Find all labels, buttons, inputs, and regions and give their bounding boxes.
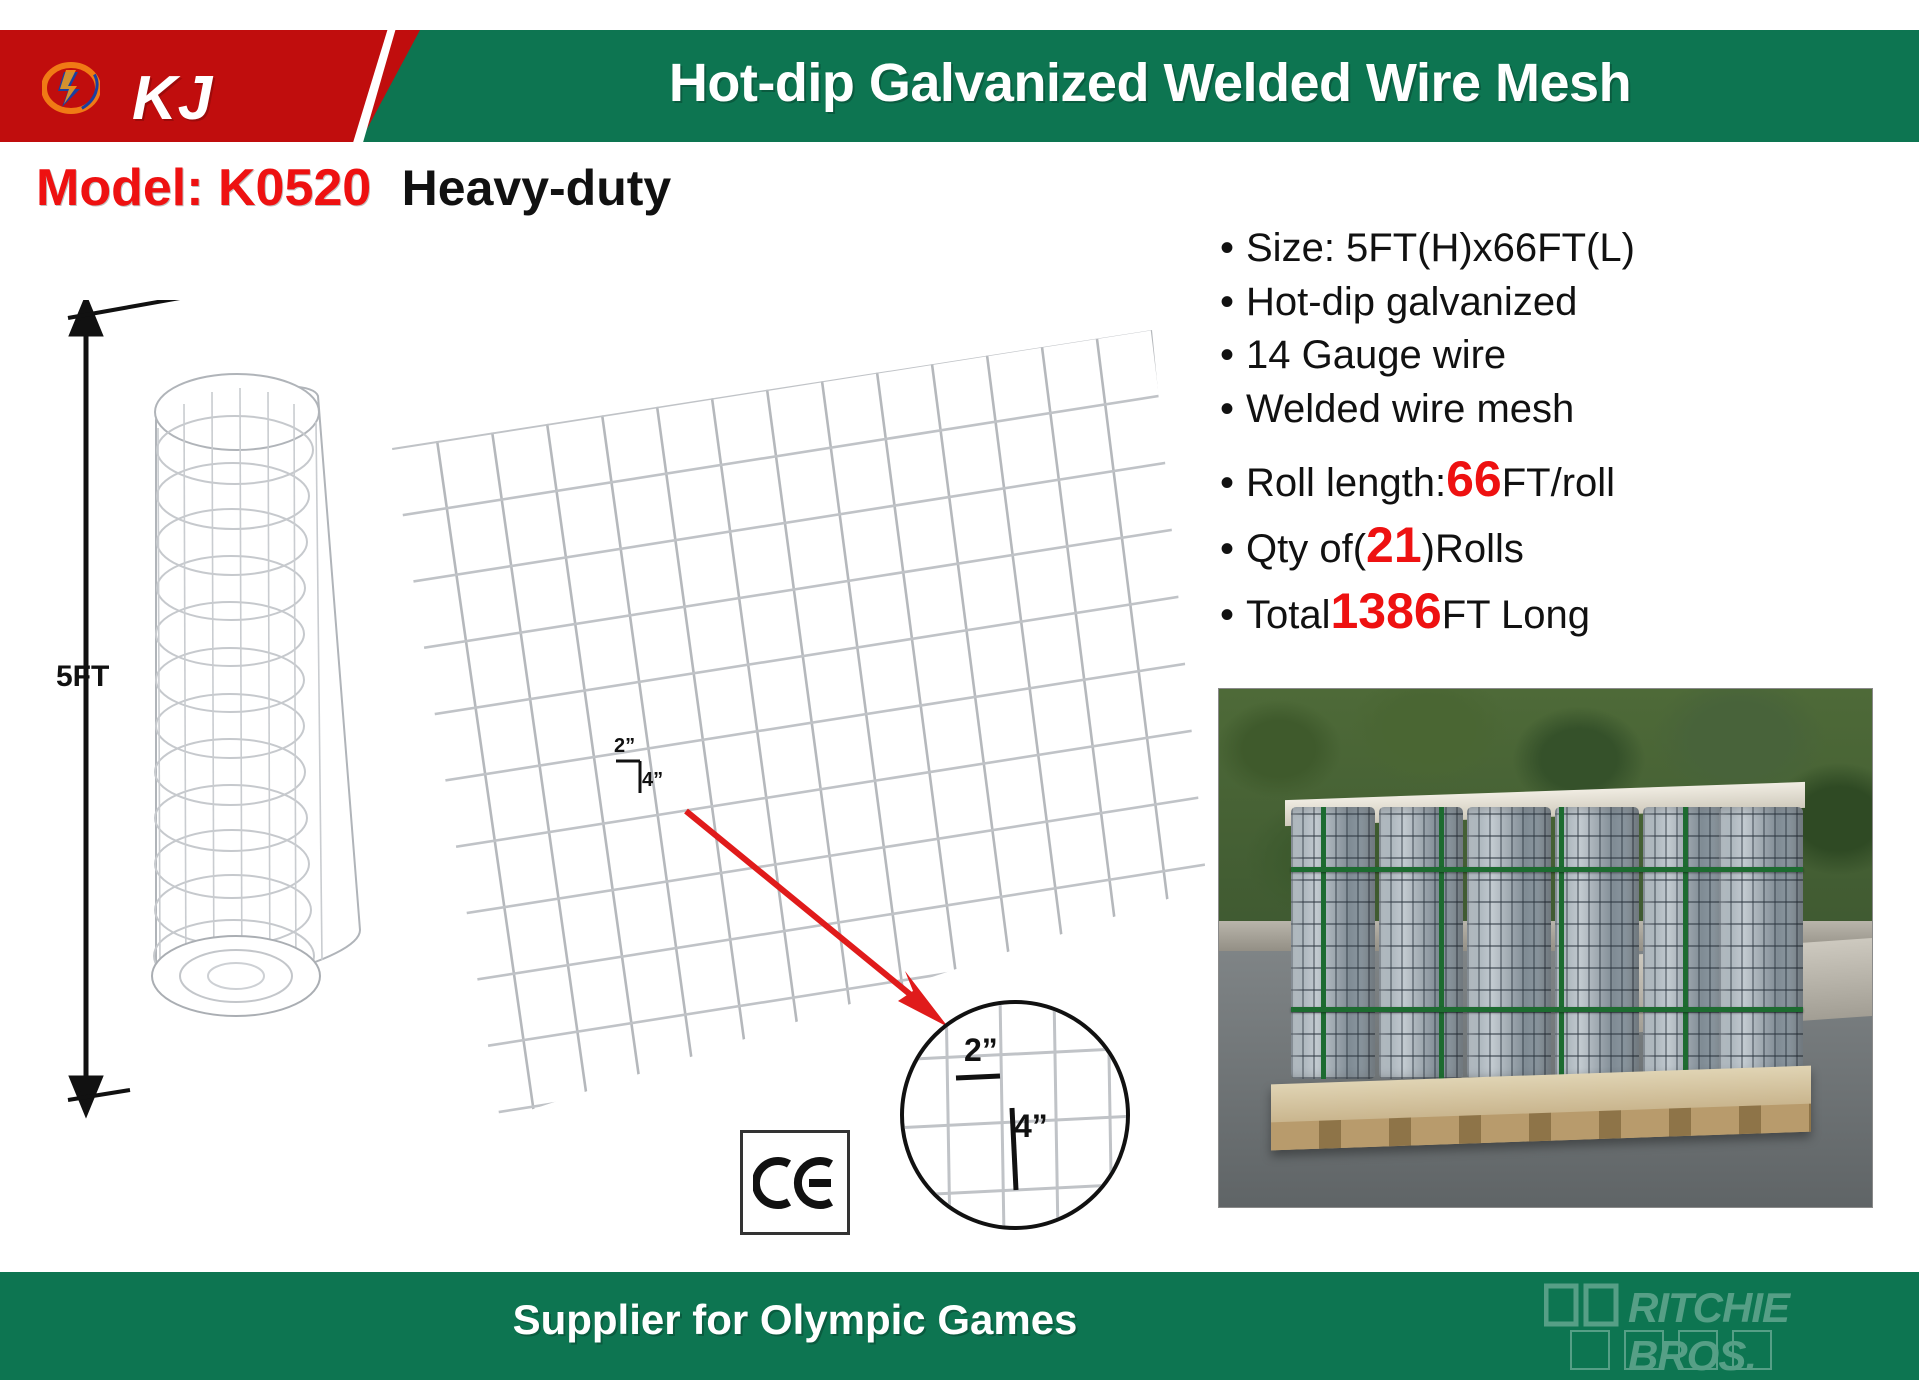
spec-item-galvanized: • Hot-dip galvanized: [1220, 278, 1860, 328]
brand-initials: KJ: [132, 68, 213, 130]
mesh-detail-magnifier: 2” 4”: [900, 1000, 1130, 1230]
spec-item-roll-length: • Roll length: 66 FT/roll: [1220, 448, 1860, 510]
bullet-icon: •: [1220, 463, 1246, 503]
photo-strap-vertical: [1321, 807, 1326, 1079]
photo-strap-horizontal: [1291, 867, 1803, 872]
model-grade: Heavy-duty: [402, 160, 672, 216]
spec-highlight-value: 21: [1366, 514, 1422, 576]
spec-item-size: • Size: 5FT(H)x66FT(L): [1220, 224, 1860, 274]
photo-strap-vertical: [1559, 807, 1564, 1079]
spec-highlight-value: 66: [1446, 448, 1502, 510]
spec-suffix: FT Long: [1442, 591, 1590, 641]
crate-icon: [1570, 1330, 1610, 1370]
fragile-icon: [1678, 1330, 1718, 1370]
photo-roll: [1291, 807, 1375, 1079]
photo-roll: [1379, 807, 1463, 1079]
forklift-icon: [1732, 1330, 1772, 1370]
ce-logo-icon: [753, 1156, 837, 1210]
photo-roll-group: [1291, 807, 1803, 1079]
bullet-icon: •: [1220, 529, 1246, 569]
spec-item-welded: • Welded wire mesh: [1220, 385, 1860, 435]
photo-strap-vertical: [1683, 807, 1688, 1079]
spec-prefix: Total: [1246, 591, 1331, 641]
model-code: Model: K0520: [36, 159, 371, 217]
bullet-icon: •: [1220, 282, 1246, 322]
page-title: Hot-dip Galvanized Welded Wire Mesh: [560, 56, 1740, 110]
photo-roll: [1555, 807, 1639, 1079]
roll-height-label: 5FT: [56, 660, 109, 694]
specification-list: • Size: 5FT(H)x66FT(L) • Hot-dip galvani…: [1220, 224, 1860, 646]
photo-strap-horizontal: [1291, 1007, 1803, 1012]
spec-item-gauge: • 14 Gauge wire: [1220, 331, 1860, 381]
spec-text: Size: 5FT(H)x66FT(L): [1246, 224, 1635, 274]
this-side-up-icon: [1624, 1330, 1664, 1370]
magnifier-height-label: 4”: [1014, 1108, 1048, 1145]
spec-item-total-length: • Total 1386 FT Long: [1220, 580, 1860, 642]
footer-tagline: Supplier for Olympic Games: [0, 1296, 1590, 1344]
spec-prefix: Qty of(: [1246, 525, 1366, 575]
spec-item-qty: • Qty of( 21 )Rolls: [1220, 514, 1860, 576]
spec-suffix: )Rolls: [1422, 525, 1524, 575]
mesh-spacing-callout-small: 2” 4”: [614, 735, 684, 805]
spec-text: Welded wire mesh: [1246, 385, 1574, 435]
photo-roll: [1467, 807, 1551, 1079]
bullet-icon: •: [1220, 389, 1246, 429]
circular-swoosh-logo-icon: [42, 62, 100, 114]
spec-text: Hot-dip galvanized: [1246, 278, 1577, 328]
spec-suffix: FT/roll: [1502, 459, 1615, 509]
header-banner: KJ Hot-dip Galvanized Welded Wire Mesh: [0, 30, 1919, 142]
ritchie-bros-watermark: RITCHIE BROS.: [1540, 1278, 1919, 1376]
spec-text: 14 Gauge wire: [1246, 331, 1506, 381]
ce-mark-badge: [740, 1130, 850, 1235]
bullet-icon: •: [1220, 335, 1246, 375]
shipping-icon-row: [1570, 1330, 1772, 1370]
photo-strap-vertical: [1439, 807, 1444, 1079]
magnifier-width-label: 2”: [964, 1032, 998, 1069]
photo-roll: [1719, 807, 1803, 1079]
rb-logo-icon: [1544, 1280, 1620, 1328]
bullet-icon: •: [1220, 595, 1246, 635]
pallet-product-photo: [1218, 688, 1873, 1208]
spec-highlight-value: 1386: [1331, 580, 1442, 642]
spec-prefix: Roll length:: [1246, 459, 1446, 509]
model-line: Model: K0520 Heavy-duty: [36, 158, 671, 218]
bullet-icon: •: [1220, 228, 1246, 268]
